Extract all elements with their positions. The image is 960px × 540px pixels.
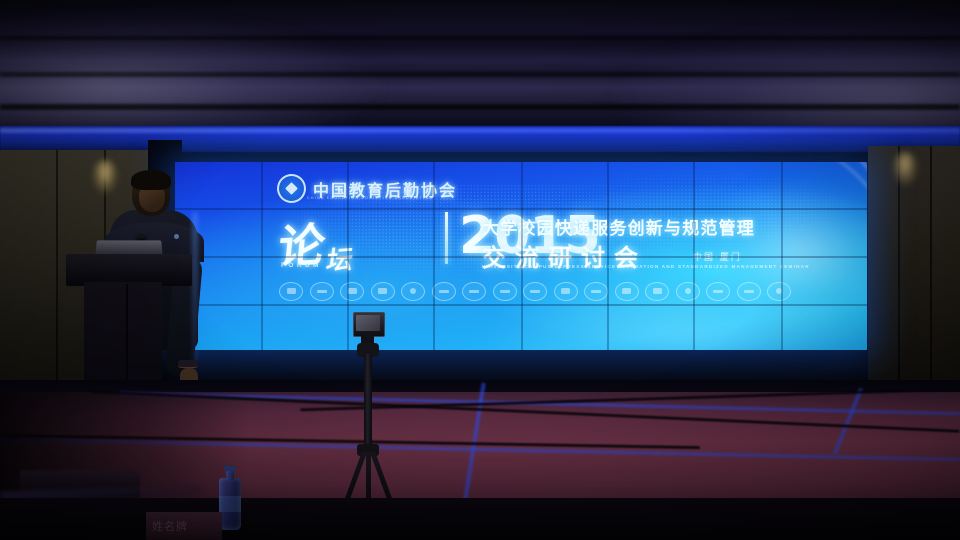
- led-tile-seam: [175, 256, 867, 258]
- camera-on-tripod: [336, 312, 400, 500]
- document-icon: [371, 282, 395, 301]
- association-emblem-icon: [277, 174, 306, 203]
- led-video-wall: 中国教育后勤协会 CHINA EDUCATION LOGISTICS ASSOC…: [175, 162, 867, 350]
- ceiling-light-glow-right: [620, 30, 960, 140]
- bottle-label: [219, 496, 241, 512]
- soffit-highlight: [0, 128, 960, 133]
- parcel-icon: [676, 282, 700, 301]
- tripod-center-column: [364, 354, 372, 448]
- name-placard-text: 姓名牌: [152, 518, 188, 534]
- box-icon: [554, 282, 578, 301]
- forum-word-cn-bottom: 坛: [324, 239, 356, 278]
- courier-icon: [615, 282, 639, 301]
- ceiling-beam: [0, 36, 960, 40]
- lapel-pin-icon: [174, 234, 179, 239]
- forum-word-en: FORUM: [281, 262, 322, 269]
- ceiling: [0, 0, 960, 132]
- name-placard: 姓名牌: [146, 512, 222, 540]
- water-bottle: [219, 466, 241, 530]
- globe-icon: [737, 282, 761, 301]
- package-icon: [279, 282, 303, 301]
- camera-lens-panel: [356, 315, 380, 331]
- clock-icon: [401, 282, 425, 301]
- association-name-en: CHINA EDUCATION LOGISTICS ASSOCIATION: [307, 196, 433, 200]
- speaker-hair: [131, 170, 171, 190]
- handshake-icon: [645, 282, 669, 301]
- truck-icon: [523, 282, 547, 301]
- scanner-icon: [584, 282, 608, 301]
- wall-sconce-icon: [892, 152, 918, 186]
- headline-english-subtitle: UNIVERSITY CAMPUS EXPRESS SERVICE INNOVA…: [482, 264, 810, 269]
- barcode-icon: [432, 282, 456, 301]
- bottle-cap: [224, 466, 236, 471]
- ceiling-beam: [0, 72, 960, 77]
- phone-icon: [767, 282, 791, 301]
- led-tile-seam: [175, 208, 867, 210]
- foreground-table: [0, 498, 960, 540]
- envelope-icon: [310, 282, 334, 301]
- forum-lockup: 论 坛 FORUM: [279, 210, 439, 276]
- lock-icon: [340, 282, 364, 301]
- train-icon: [493, 282, 517, 301]
- service-icon-strip: [279, 280, 779, 302]
- speaker-rim-light: [192, 212, 198, 362]
- ceiling-beam: [0, 104, 960, 110]
- airplane-icon: [462, 282, 486, 301]
- led-tile-seam: [175, 304, 867, 306]
- headline-line-1: 大学校园快递服务创新与规范管理: [482, 214, 755, 239]
- conference-hall-photo: 中国教育后勤协会 CHINA EDUCATION LOGISTICS ASSOC…: [0, 0, 960, 540]
- carpet-stripe: [833, 388, 863, 454]
- van-icon: [706, 282, 730, 301]
